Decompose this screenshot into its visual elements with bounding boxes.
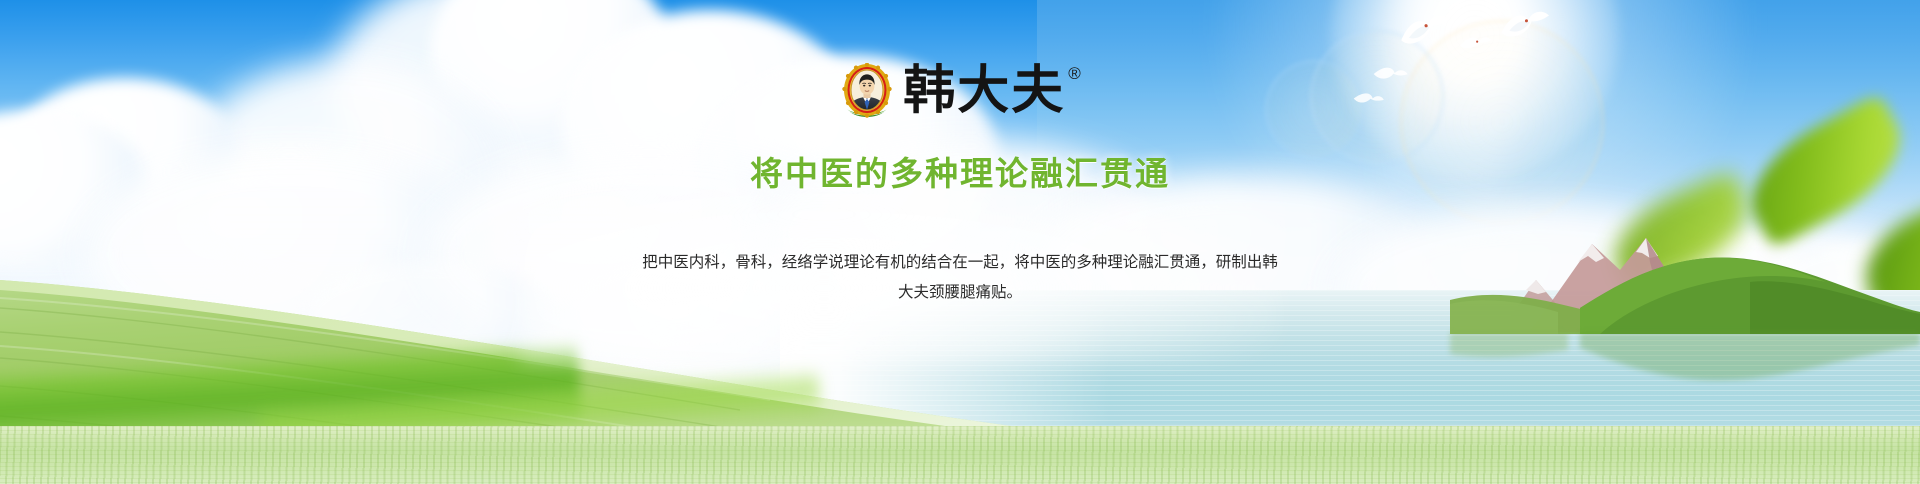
banner-subtext: 把中医内科，骨科，经络学说理论有机的结合在一起，将中医的多种理论融汇贯通，研制出… <box>640 247 1280 307</box>
hero-banner: 韩大夫 ® 将中医的多种理论融汇贯通 把中医内科，骨科，经络学说理论有机的结合在… <box>0 0 1920 484</box>
hill-reflection <box>1450 332 1920 388</box>
doctor-portrait-emblem-icon <box>839 63 895 125</box>
foreground-grass <box>0 426 1920 484</box>
brand-wordmark: 韩大夫 <box>903 63 1065 119</box>
banner-content: 韩大夫 ® 将中医的多种理论融汇贯通 把中医内科，骨科，经络学说理论有机的结合在… <box>0 0 1920 307</box>
registered-trademark-icon: ® <box>1068 65 1081 82</box>
banner-headline: 将中医的多种理论融汇贯通 <box>0 147 1920 195</box>
brand-logo[interactable]: 韩大夫 ® <box>0 63 1920 125</box>
